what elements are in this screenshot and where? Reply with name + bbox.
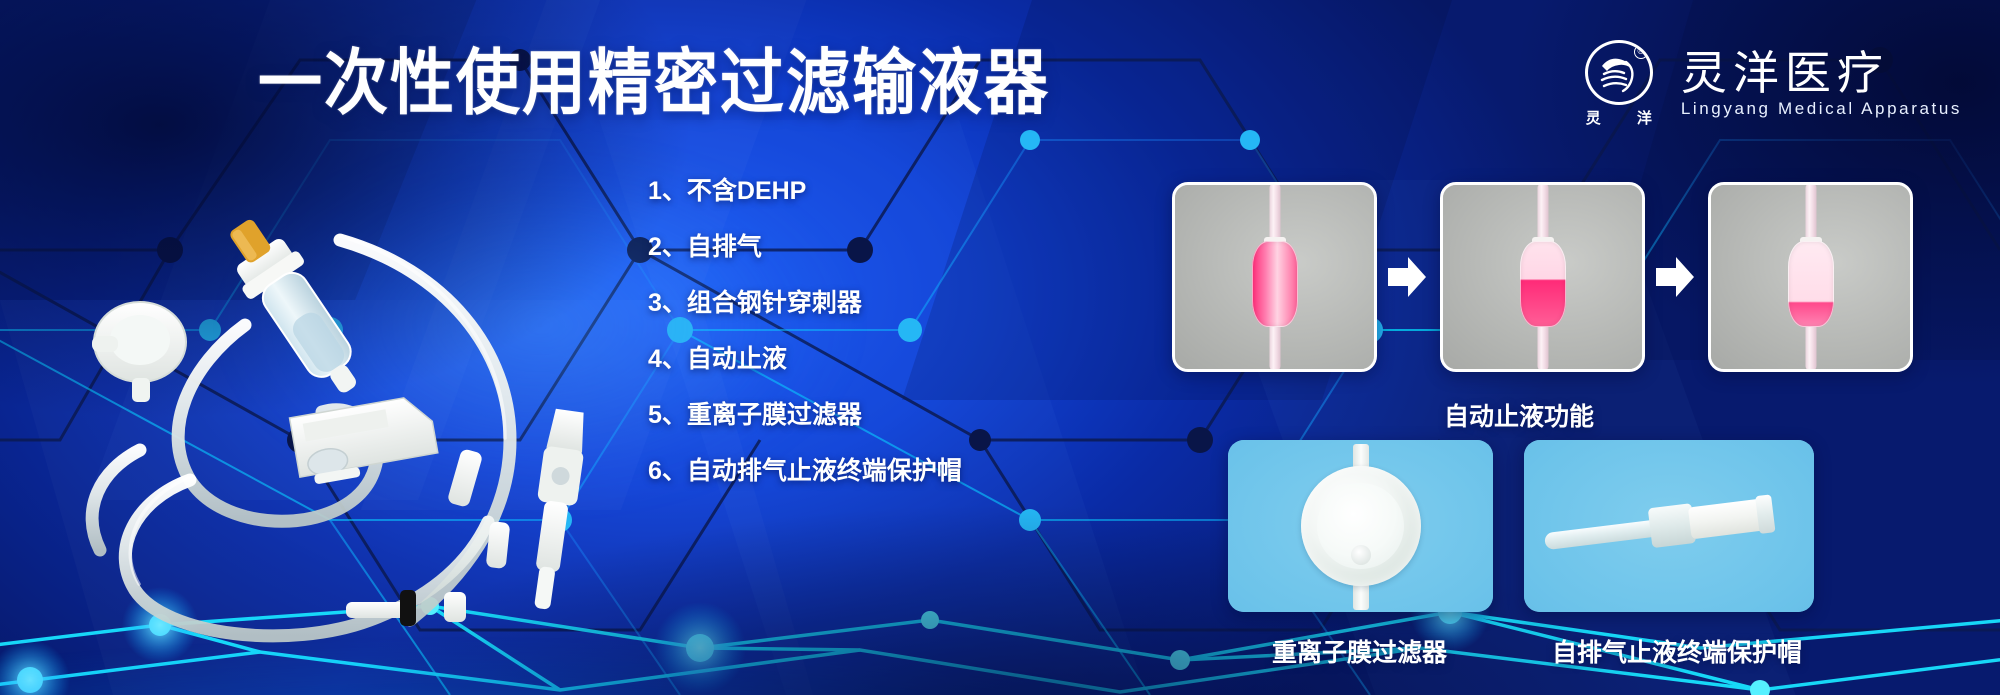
sequence-frame-3 <box>1708 182 1913 372</box>
brand-name-cn: 灵洋医疗 <box>1681 48 1962 98</box>
feature-item-3: 3、组合钢针穿刺器 <box>648 288 978 318</box>
right-arrow-icon <box>1654 254 1696 300</box>
detail-card-cap <box>1524 440 1814 612</box>
right-arrow-icon <box>1386 254 1428 300</box>
lingyang-seal-icon: ® 灵 洋 <box>1575 40 1663 128</box>
detail-card-filter <box>1228 440 1493 612</box>
round-filter-icon <box>1301 466 1421 586</box>
brand-logo: ® 灵 洋 灵洋医疗 Lingyang Medical Apparatus <box>1575 40 1962 128</box>
seal-caption: 灵 洋 <box>1570 107 1668 128</box>
sequence-arrow-2 <box>1654 254 1696 300</box>
iv-infusion-set-icon <box>40 150 680 670</box>
sequence-frame-1 <box>1172 182 1377 372</box>
detail-caption-cap: 自排气止液终端保护帽 <box>1552 633 1802 669</box>
feature-item-1: 1、不含DEHP <box>648 176 978 206</box>
detail-caption-filter: 重离子膜过滤器 <box>1272 633 1447 669</box>
banner-root: 一次性使用精密过滤输液器 ® 灵 洋 灵洋医疗 Lingyang <box>0 0 2000 695</box>
seal-circle-icon: ® <box>1585 40 1653 105</box>
feature-list: 1、不含DEHP 2、自排气 3、组合钢针穿刺器 4、自动止液 5、重离子膜过滤… <box>648 176 978 486</box>
registered-mark: ® <box>1634 45 1648 59</box>
brand-name-en: Lingyang Medical Apparatus <box>1681 98 1962 120</box>
sequence-caption: 自动止液功能 <box>1444 397 1594 433</box>
feature-item-4: 4、自动止液 <box>648 344 978 374</box>
feature-item-6: 6、自动排气止液终端保护帽 <box>648 456 978 486</box>
sequence-arrow-1 <box>1386 254 1428 300</box>
page-title: 一次性使用精密过滤输液器 <box>258 39 1038 126</box>
sequence-frame-2 <box>1440 182 1645 372</box>
feature-item-5: 5、重离子膜过滤器 <box>648 400 978 430</box>
product-photo <box>40 150 680 670</box>
feature-item-2: 2、自排气 <box>648 232 978 262</box>
